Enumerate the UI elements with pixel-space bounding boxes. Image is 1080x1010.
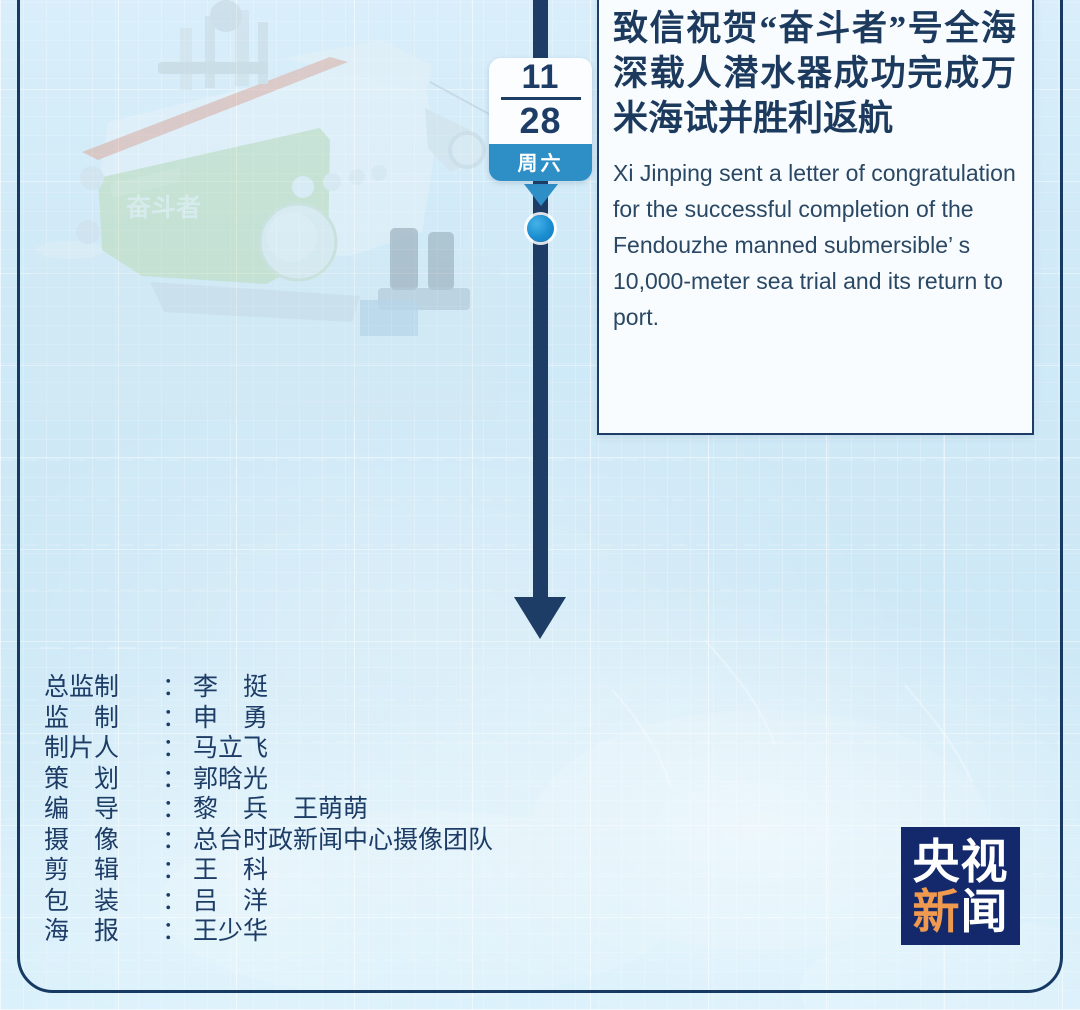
credit-name: 郭晗光 [193, 764, 268, 795]
date-month: 11 [489, 60, 592, 94]
logo-line-yangshi: 央视 [913, 838, 1009, 885]
credit-role: 编 导 [44, 794, 162, 825]
news-headline: 致信祝贺“奋斗者”号全海深载人潜水器成功完成万米海试并胜利返航 [613, 6, 1016, 141]
credit-colon: ： [162, 825, 187, 856]
credit-colon: ： [162, 794, 187, 825]
credit-role: 摄 像 [44, 825, 162, 856]
credit-role: 剪 辑 [44, 855, 162, 886]
credit-colon: ： [162, 855, 187, 886]
credit-colon: ： [162, 886, 187, 917]
credit-name: 吕 洋 [193, 886, 268, 917]
credit-colon: ： [162, 703, 187, 734]
credit-name: 总台时政新闻中心摄像团队 [193, 825, 493, 856]
timeline-arrow-icon [514, 597, 566, 639]
credit-role: 总监制 [44, 672, 162, 703]
credit-name: 申 勇 [193, 703, 268, 734]
date-day: 28 [489, 102, 592, 140]
credit-row: 策 划：郭晗光 [44, 764, 493, 795]
credit-name: 黎 兵 王萌萌 [193, 794, 368, 825]
credit-colon: ： [162, 672, 187, 703]
credit-row: 海 报：王少华 [44, 916, 493, 947]
credit-row: 剪 辑：王 科 [44, 855, 493, 886]
svg-text:奋斗者: 奋斗者 [125, 194, 201, 222]
logo-line-xinwen: 新 闻 [913, 888, 1009, 935]
credit-name: 马立飞 [193, 733, 268, 764]
date-chip-numbers: 11 28 [489, 58, 592, 144]
date-chip-pointer-icon [524, 184, 558, 206]
news-card: 致信祝贺“奋斗者”号全海深载人潜水器成功完成万米海试并胜利返航 Xi Jinpi… [597, 0, 1034, 435]
credit-row: 编 导：黎 兵 王萌萌 [44, 794, 493, 825]
news-summary-english: Xi Jinping sent a letter of congratulati… [613, 155, 1016, 335]
credit-colon: ： [162, 916, 187, 947]
poster-root: 奋斗者 [0, 0, 1080, 1010]
timeline-event-dot [527, 215, 554, 242]
credit-role: 包 装 [44, 886, 162, 917]
date-weekday-badge: 周六 [489, 144, 592, 181]
fendouzhe-submersible-photo: 奋斗者 [30, 0, 500, 420]
logo-char-wen: 闻 [961, 888, 1009, 935]
credit-name: 王少华 [193, 916, 268, 947]
credit-row: 总监制：李 挺 [44, 672, 493, 703]
credit-colon: ： [162, 733, 187, 764]
credit-role: 策 划 [44, 764, 162, 795]
credit-role: 制片人 [44, 733, 162, 764]
credit-colon: ： [162, 764, 187, 795]
credit-name: 王 科 [193, 855, 268, 886]
date-chip: 11 28 周六 [489, 58, 592, 181]
logo-char-xin: 新 [913, 888, 961, 935]
credit-role: 海 报 [44, 916, 162, 947]
credit-row: 制片人：马立飞 [44, 733, 493, 764]
credit-row: 包 装：吕 洋 [44, 886, 493, 917]
credits-list: 总监制：李 挺监 制：申 勇制片人：马立飞策 划：郭晗光编 导：黎 兵 王萌萌摄… [44, 672, 493, 947]
credit-role: 监 制 [44, 703, 162, 734]
cctv-news-logo: 央视 新 闻 [901, 827, 1020, 945]
credit-row: 摄 像：总台时政新闻中心摄像团队 [44, 825, 493, 856]
credit-name: 李 挺 [193, 672, 268, 703]
credit-row: 监 制：申 勇 [44, 703, 493, 734]
